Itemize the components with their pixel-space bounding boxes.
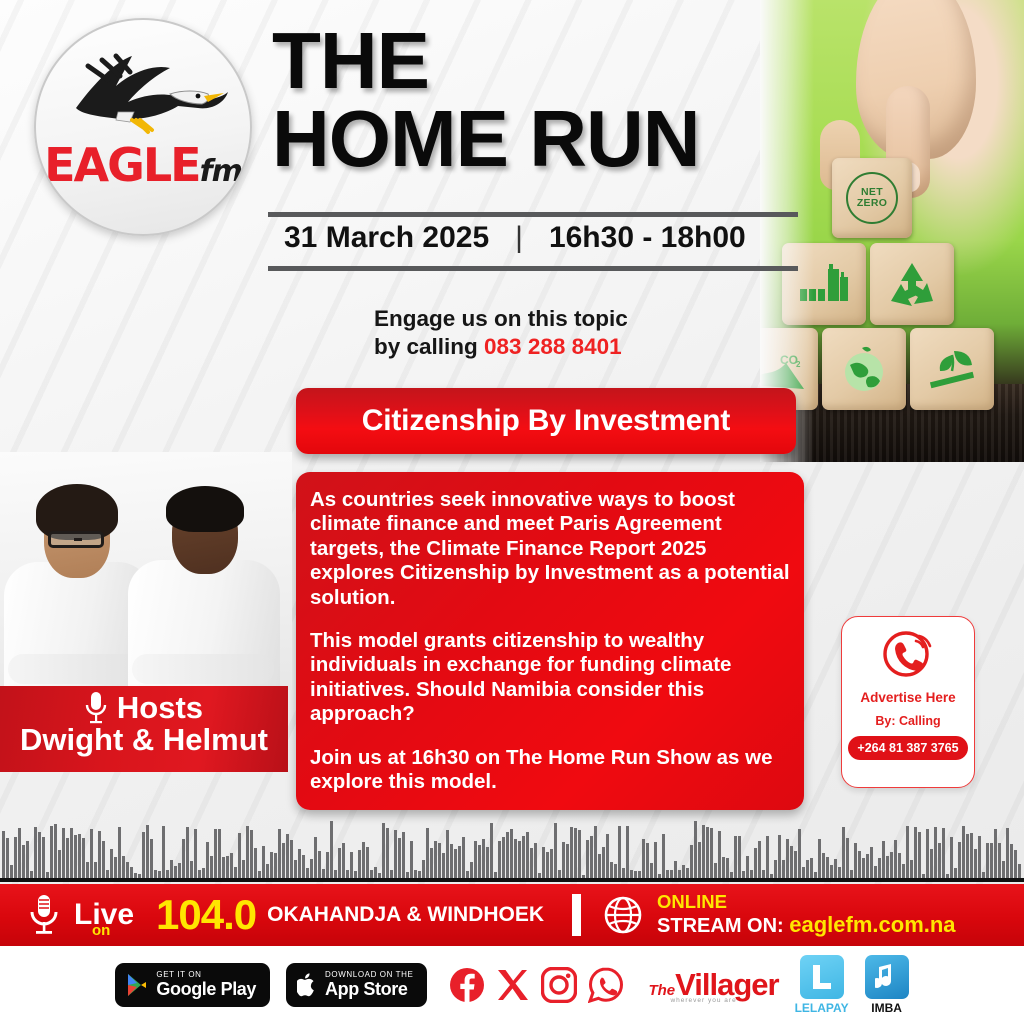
app-store-badge[interactable]: Download on the App Store bbox=[286, 963, 427, 1007]
cube-globe bbox=[822, 328, 906, 410]
the-villager-logo[interactable]: The Villager wherever you are bbox=[648, 967, 778, 1003]
waveform-bar bbox=[54, 824, 57, 878]
waveform-bar bbox=[266, 864, 269, 878]
waveform-bar bbox=[974, 849, 977, 878]
waveform-bar bbox=[354, 871, 357, 878]
waveform-bar bbox=[134, 873, 137, 878]
waveform-bar bbox=[178, 863, 181, 878]
waveform-bar bbox=[666, 870, 669, 878]
waveform-bar bbox=[1002, 861, 1005, 879]
plant-in-hand-icon bbox=[924, 345, 980, 393]
waveform-bar bbox=[406, 872, 409, 878]
eaglefm-logo: EAGLEfm bbox=[34, 18, 252, 236]
waveform-bar bbox=[414, 870, 417, 878]
waveform-bar bbox=[838, 867, 841, 878]
net-zero-badge: NET ZERO bbox=[846, 172, 898, 224]
waveform-bar bbox=[866, 854, 869, 878]
waveform-bar bbox=[430, 848, 433, 879]
waveform-bar bbox=[986, 843, 989, 879]
waveform-bar bbox=[18, 828, 21, 878]
show-time: 16h30 - 18h00 bbox=[549, 221, 746, 255]
waveform-bar bbox=[206, 842, 209, 878]
description-paragraph-3: Join us at 16h30 on The Home Run Show as… bbox=[310, 746, 790, 795]
logo-wordmark: EAGLEfm bbox=[36, 138, 250, 192]
app-store-big-label: App Store bbox=[325, 980, 413, 999]
waveform-bar bbox=[594, 826, 597, 878]
waveform-bar bbox=[558, 870, 561, 878]
waveform-bar bbox=[522, 836, 525, 879]
waveform-bar bbox=[290, 840, 293, 878]
waveform-bar bbox=[518, 841, 521, 878]
globe-icon bbox=[603, 895, 643, 935]
waveform-bar bbox=[182, 839, 185, 879]
waveform-bar bbox=[154, 870, 157, 878]
waveform-bar bbox=[338, 848, 341, 878]
waveform-bar bbox=[918, 832, 921, 878]
waveform-bar bbox=[542, 847, 545, 878]
waveform-bar bbox=[282, 843, 285, 878]
footer-bar: GET IT ON Google Play Download on the Ap… bbox=[0, 946, 1024, 1024]
waveform-bar bbox=[310, 859, 313, 878]
net-zero-label: NET ZERO bbox=[848, 187, 896, 209]
waveform-bar bbox=[582, 875, 585, 878]
waveform-bar bbox=[850, 870, 853, 878]
waveform-bar bbox=[750, 870, 753, 879]
waveform-bar bbox=[978, 836, 981, 878]
description-paragraph-1: As countries seek innovative ways to boo… bbox=[310, 488, 790, 610]
waveform-bar bbox=[210, 856, 213, 878]
waveform-bar bbox=[926, 829, 929, 878]
eagle-icon bbox=[58, 46, 230, 146]
waveform-bar bbox=[886, 856, 889, 878]
waveform-bar bbox=[74, 835, 77, 878]
waveform-bar bbox=[298, 849, 301, 878]
waveform-bar bbox=[254, 848, 257, 878]
online-label: ONLINE bbox=[657, 892, 956, 913]
waveform-bar bbox=[798, 829, 801, 878]
waveform-bar bbox=[830, 865, 833, 878]
waveform-bar bbox=[286, 834, 289, 878]
waveform-bar bbox=[510, 829, 513, 878]
waveform-bar bbox=[942, 828, 945, 878]
waveform-bar bbox=[698, 842, 701, 878]
waveform-bar bbox=[370, 870, 373, 878]
advertise-phone-number[interactable]: +264 81 387 3765 bbox=[848, 736, 968, 760]
waveform-bar bbox=[686, 868, 689, 878]
waveform-bar bbox=[826, 857, 829, 878]
waveform-bar bbox=[834, 859, 837, 878]
waveform-bar bbox=[94, 862, 97, 878]
waveform-bar bbox=[718, 831, 721, 878]
waveform-bar bbox=[878, 858, 881, 878]
waveform-bar bbox=[342, 843, 345, 878]
waveform-bar bbox=[922, 874, 925, 878]
waveform-bar bbox=[774, 860, 777, 878]
waveform-bar bbox=[142, 832, 145, 878]
waveform-bar bbox=[34, 827, 37, 878]
waveform-bar bbox=[322, 869, 325, 878]
waveform-bar bbox=[86, 862, 89, 878]
waveform-bar bbox=[790, 846, 793, 878]
waveform-bar bbox=[294, 860, 297, 878]
frequency-value: 104.0 bbox=[156, 891, 256, 939]
stream-on-label: STREAM ON: bbox=[657, 915, 784, 937]
social-links bbox=[449, 967, 624, 1003]
waveform-bar bbox=[442, 853, 445, 878]
engage-call-label: by calling bbox=[374, 334, 484, 359]
waveform-bar bbox=[138, 874, 141, 878]
waveform-bar bbox=[494, 872, 497, 878]
live-stream-bar: Live on 104.0 OKAHANDJA & WINDHOEK ONLIN… bbox=[0, 884, 1024, 946]
waveform-bar bbox=[238, 833, 241, 878]
waveform-bar bbox=[246, 826, 249, 878]
stream-url[interactable]: eaglefm.com.na bbox=[789, 912, 955, 937]
waveform-bar bbox=[822, 853, 825, 879]
hosts-title-row: Hosts bbox=[0, 690, 288, 726]
waveform-bar bbox=[2, 831, 5, 878]
waveform-bar bbox=[150, 839, 153, 878]
phone-ringing-icon bbox=[882, 628, 934, 680]
waveform-bar bbox=[498, 841, 501, 878]
waveform-bar bbox=[762, 870, 765, 878]
waveform-bar bbox=[818, 839, 821, 878]
waveform-bar bbox=[158, 871, 161, 878]
waveform-bar bbox=[410, 841, 413, 878]
waveform-bar bbox=[562, 842, 565, 878]
divider-bottom bbox=[268, 266, 798, 271]
waveform-bar bbox=[466, 871, 469, 878]
waveform-bar bbox=[390, 870, 393, 878]
logo-suffix: fm bbox=[200, 154, 242, 189]
waveform-bar bbox=[810, 858, 813, 878]
cube-plant-hand bbox=[910, 328, 994, 410]
waveform-bar bbox=[846, 838, 849, 878]
waveform-bar bbox=[842, 827, 845, 878]
title-line-1: THE bbox=[272, 22, 872, 100]
waveform-bar bbox=[258, 871, 261, 878]
microphone-icon-live bbox=[28, 893, 60, 937]
topic-label: Citizenship By Investment bbox=[362, 404, 730, 438]
waveform-bar bbox=[902, 864, 905, 878]
waveform-bar bbox=[858, 851, 861, 878]
datetime-separator: | bbox=[515, 221, 523, 255]
waveform-bar bbox=[742, 871, 745, 879]
waveform-bar bbox=[538, 873, 541, 878]
waveform-bar bbox=[170, 860, 173, 878]
stream-line: STREAM ON: eaglefm.com.na bbox=[657, 913, 956, 938]
instagram-icon[interactable] bbox=[541, 967, 577, 1003]
waveform-bar bbox=[114, 857, 117, 878]
waveform-bar bbox=[130, 867, 133, 878]
description-card: As countries seek innovative ways to boo… bbox=[296, 472, 804, 810]
earth-icon bbox=[838, 343, 890, 395]
waveform-bar bbox=[174, 866, 177, 879]
lelapay-l-icon bbox=[809, 963, 835, 991]
waveform-bar bbox=[678, 870, 681, 878]
waveform-bar bbox=[418, 871, 421, 878]
google-play-text: GET IT ON Google Play bbox=[156, 971, 256, 998]
engage-line-1: Engage us on this topic bbox=[374, 305, 794, 333]
waveform-bar bbox=[618, 826, 621, 878]
waveform-bar bbox=[650, 863, 653, 878]
waveform-bar bbox=[218, 829, 221, 878]
waveform-bar bbox=[566, 844, 569, 879]
google-play-badge[interactable]: GET IT ON Google Play bbox=[115, 963, 270, 1007]
waveform-bar bbox=[438, 843, 441, 878]
waveform-bar bbox=[474, 841, 477, 878]
waveform-bar bbox=[262, 846, 265, 879]
waveform-bar bbox=[330, 821, 333, 878]
waveform-bar bbox=[894, 840, 897, 878]
villager-tagline: wherever you are bbox=[670, 997, 736, 1004]
waveform-bar bbox=[950, 837, 953, 878]
waveform-bar bbox=[690, 845, 693, 878]
hosts-names: Dwight & Helmut bbox=[0, 722, 288, 758]
waveform-bar bbox=[938, 843, 941, 878]
waveform-bar bbox=[486, 847, 489, 878]
waveform-bar bbox=[350, 852, 353, 878]
waveform-bar bbox=[346, 870, 349, 878]
waveform-bar bbox=[962, 826, 965, 878]
online-stream-group: ONLINE STREAM ON: eaglefm.com.na bbox=[657, 892, 956, 937]
waveform-bar bbox=[434, 841, 437, 878]
waveform-bar bbox=[998, 843, 1001, 878]
waveform-bar bbox=[638, 871, 641, 878]
waveform-bar bbox=[50, 826, 53, 878]
whatsapp-icon[interactable] bbox=[588, 967, 624, 1003]
waveform-bar bbox=[946, 874, 949, 878]
waveform-bar bbox=[758, 841, 761, 878]
waveform-bar bbox=[738, 836, 741, 878]
advertise-subtitle: By: Calling bbox=[842, 714, 974, 728]
waveform-bar bbox=[670, 870, 673, 878]
waveform-bar bbox=[606, 834, 609, 879]
music-note-icon bbox=[875, 962, 899, 992]
waveform-bar bbox=[634, 871, 637, 878]
title-line-2: HOME RUN bbox=[272, 100, 872, 178]
waveform-bar bbox=[778, 835, 781, 878]
waveform-bar bbox=[630, 870, 633, 878]
waveform-bar bbox=[122, 856, 125, 878]
partner-lelapay[interactable]: LELAPAY bbox=[795, 955, 849, 1015]
waveform-bar bbox=[278, 829, 281, 879]
app-store-text: Download on the App Store bbox=[325, 971, 413, 998]
waveform-bar bbox=[770, 874, 773, 878]
waveform-bar bbox=[622, 868, 625, 878]
waveform-bar bbox=[674, 861, 677, 878]
waveform-bar bbox=[890, 852, 893, 878]
waveform-bar bbox=[746, 856, 749, 878]
waveform-bar bbox=[574, 828, 577, 878]
waveform-bar bbox=[646, 843, 649, 878]
waveform-bar bbox=[802, 867, 805, 878]
waveform-bar bbox=[682, 865, 685, 878]
waveform-bar bbox=[458, 846, 461, 878]
waveform-bar bbox=[994, 829, 997, 878]
waveform-bar bbox=[470, 862, 473, 878]
waveform-bar bbox=[710, 828, 713, 878]
waveform-bar bbox=[90, 829, 93, 878]
waveform-bar bbox=[934, 827, 937, 879]
waveform-bar bbox=[870, 847, 873, 878]
waveform-bar bbox=[514, 839, 517, 878]
waveform-bar bbox=[726, 858, 729, 878]
waveform-bar bbox=[754, 848, 757, 878]
waveform-bar bbox=[702, 825, 705, 878]
waveform-bar bbox=[450, 844, 453, 878]
waveform-bar bbox=[38, 832, 41, 878]
waveform-bar bbox=[422, 860, 425, 878]
hosts-label: Hosts bbox=[117, 690, 203, 726]
waveform-bar bbox=[882, 841, 885, 878]
waveform-bar bbox=[706, 827, 709, 878]
waveform-bar bbox=[374, 867, 377, 878]
live-label-group: Live on bbox=[74, 900, 134, 930]
waveform-bar bbox=[394, 830, 397, 878]
advertise-box[interactable]: Advertise Here By: Calling +264 81 387 3… bbox=[841, 616, 975, 788]
waveform-bar bbox=[226, 856, 229, 878]
waveform-bar bbox=[722, 857, 725, 878]
waveform-bar bbox=[614, 864, 617, 878]
waveform-bar bbox=[126, 862, 129, 878]
waveform-bar bbox=[202, 868, 205, 879]
waveform-bar bbox=[786, 839, 789, 878]
google-play-icon bbox=[126, 973, 148, 997]
waveform-bar bbox=[98, 831, 101, 878]
waveform-bar bbox=[274, 853, 277, 878]
waveform-bar bbox=[30, 871, 33, 878]
waveform-bar bbox=[222, 857, 225, 878]
waveform-bar bbox=[462, 837, 465, 878]
page-title: THE HOME RUN bbox=[272, 22, 872, 177]
waveform-bar bbox=[166, 870, 169, 878]
waveform-bar bbox=[1006, 828, 1009, 878]
waveform-bar bbox=[446, 830, 449, 878]
waveform-bar bbox=[814, 872, 817, 878]
host-one-glasses bbox=[48, 531, 104, 548]
waveform-bar bbox=[898, 853, 901, 878]
divider-top bbox=[268, 212, 798, 217]
waveform-bar bbox=[334, 870, 337, 878]
waveform-bar bbox=[598, 854, 601, 878]
waveform-bar bbox=[546, 852, 549, 878]
waveform-bar bbox=[314, 837, 317, 878]
hosts-photo bbox=[0, 452, 292, 690]
waveform-bar bbox=[194, 829, 197, 878]
waveform-bar bbox=[398, 838, 401, 878]
waveform-bar bbox=[910, 860, 913, 878]
waveform-bar bbox=[554, 823, 557, 879]
waveform-bar bbox=[426, 828, 429, 878]
hosts-banner: Hosts Dwight & Helmut bbox=[0, 686, 288, 772]
waveform-bar bbox=[14, 837, 17, 878]
waveform-bar bbox=[954, 868, 957, 878]
waveform-bar bbox=[874, 866, 877, 878]
waveform-bar bbox=[358, 850, 361, 878]
waveform-bar bbox=[326, 852, 329, 878]
waveform-bar bbox=[214, 829, 217, 878]
google-play-big-label: Google Play bbox=[156, 980, 256, 999]
waveform-bar bbox=[402, 832, 405, 878]
waveform-bar bbox=[230, 853, 233, 879]
waveform-bar bbox=[854, 843, 857, 878]
waveform-bar bbox=[610, 862, 613, 878]
waveform-bar bbox=[734, 836, 737, 878]
microphone-icon bbox=[85, 691, 107, 725]
waveform-bar bbox=[502, 837, 505, 879]
waveform-bar bbox=[478, 845, 481, 878]
x-twitter-icon[interactable] bbox=[496, 968, 530, 1002]
waveform-bar bbox=[658, 874, 661, 878]
waveform-bar bbox=[590, 836, 593, 878]
apple-icon bbox=[297, 973, 317, 997]
waveform-bar bbox=[62, 828, 65, 878]
waveform-bar bbox=[966, 834, 969, 878]
waveform-bar bbox=[958, 842, 961, 878]
waveform-bar bbox=[550, 849, 553, 878]
waveform-bar bbox=[46, 872, 49, 878]
live-on-label: on bbox=[92, 923, 110, 938]
lelapay-mark bbox=[800, 955, 844, 999]
waveform-bar bbox=[654, 842, 657, 878]
imba-label: IMBA bbox=[865, 1001, 909, 1015]
waveform-bar bbox=[42, 837, 45, 878]
topic-banner: Citizenship By Investment bbox=[296, 388, 796, 454]
show-datetime: 31 March 2025 | 16h30 - 18h00 bbox=[284, 221, 814, 255]
recycle-icon bbox=[885, 259, 939, 309]
waveform-bar bbox=[586, 840, 589, 878]
waveform-bar bbox=[662, 834, 665, 879]
waveform-bar bbox=[162, 826, 165, 878]
waveform-bar bbox=[626, 826, 629, 878]
waveform-bar bbox=[82, 838, 85, 878]
partner-imba[interactable]: IMBA bbox=[865, 955, 909, 1015]
waveform-bar bbox=[186, 827, 189, 878]
waveform-bar bbox=[602, 847, 605, 878]
waveform-bar bbox=[714, 863, 717, 878]
waveform-bar bbox=[730, 872, 733, 878]
waveform-bar bbox=[362, 842, 365, 878]
engage-line-2: by calling 083 288 8401 bbox=[374, 333, 794, 361]
waveform-bar bbox=[58, 850, 61, 878]
waveform-bar bbox=[106, 870, 109, 878]
waveform-bar bbox=[530, 848, 533, 878]
cube-recycle bbox=[870, 243, 954, 325]
waveform-bar bbox=[66, 838, 69, 879]
waveform-bar bbox=[914, 827, 917, 878]
engage-phone-number[interactable]: 083 288 8401 bbox=[484, 334, 622, 359]
facebook-icon[interactable] bbox=[449, 967, 485, 1003]
waveform-bar bbox=[982, 872, 985, 878]
poster-canvas: NET ZERO bbox=[0, 0, 1024, 1024]
waveform-bar bbox=[1014, 850, 1017, 879]
waveform-bar bbox=[318, 851, 321, 878]
waveform-bar bbox=[306, 868, 309, 878]
waveform-bar bbox=[642, 839, 645, 878]
waveform-bar bbox=[366, 847, 369, 878]
waveform-bar bbox=[506, 832, 509, 879]
waveform-bar bbox=[906, 826, 909, 878]
waveform-bar bbox=[10, 865, 13, 878]
waveform-bar bbox=[146, 825, 149, 878]
waveform-bar bbox=[234, 867, 237, 878]
coverage-cities: OKAHANDJA & WINDHOEK bbox=[267, 903, 544, 927]
waveform-bar bbox=[110, 849, 113, 878]
waveform-bar bbox=[526, 832, 529, 879]
waveform-bar bbox=[794, 851, 797, 878]
waveform-bar bbox=[806, 860, 809, 878]
waveform-bar bbox=[782, 860, 785, 878]
